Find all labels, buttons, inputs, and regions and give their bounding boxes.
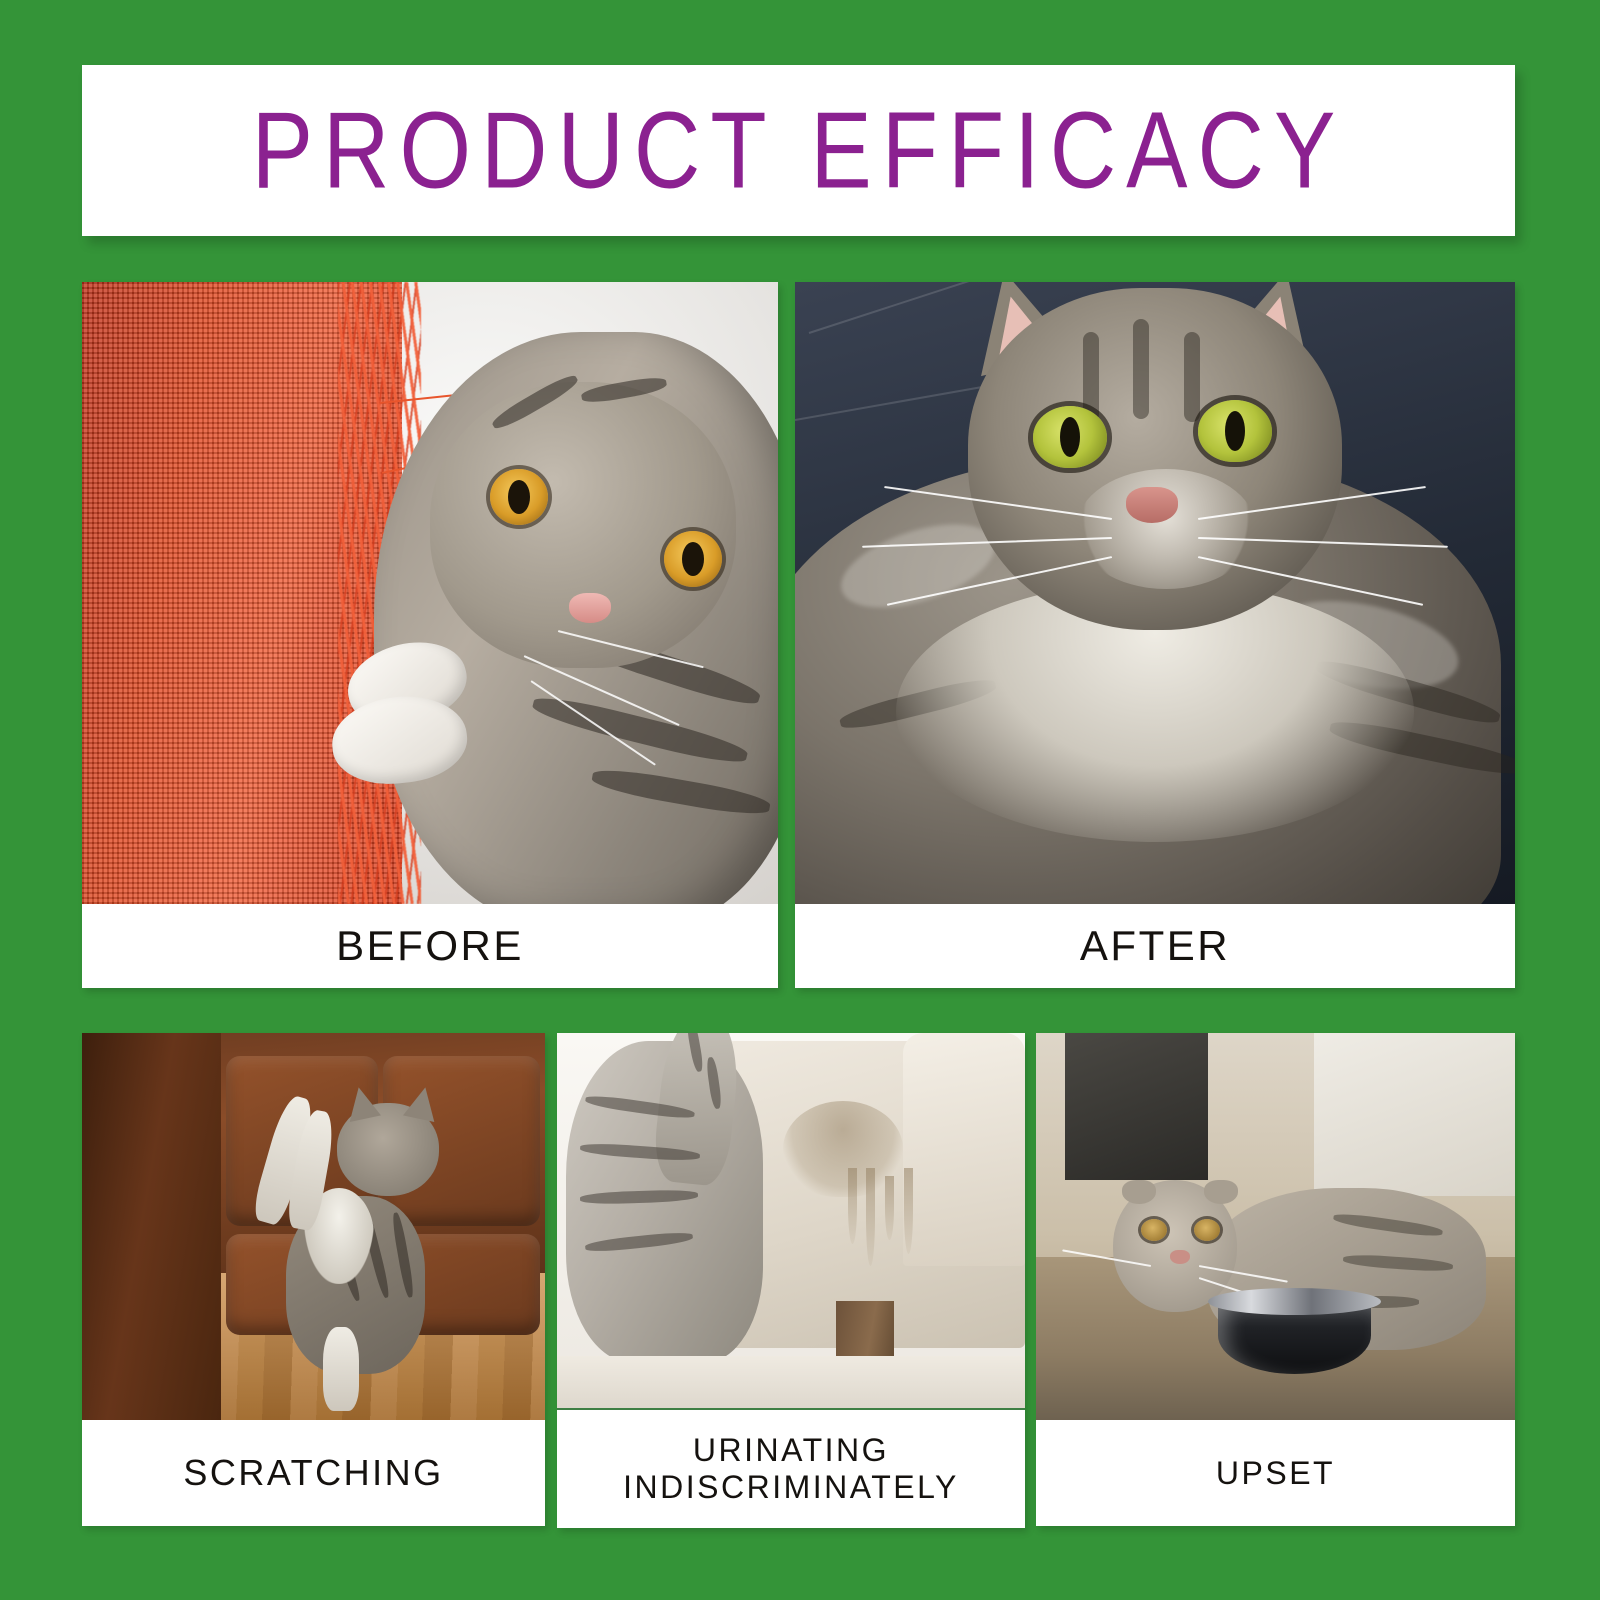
sofa-arm xyxy=(82,1033,221,1420)
armchair-arm xyxy=(903,1033,1025,1266)
card-after: AFTER xyxy=(795,282,1515,988)
caption-line-1: URINATING xyxy=(693,1432,889,1468)
cat-forehead-stripe xyxy=(1184,332,1200,422)
cat-pupil xyxy=(1060,417,1080,457)
cat-ear-right xyxy=(403,1084,441,1122)
title-banner: PRODUCT EFFICACY xyxy=(82,65,1515,236)
urine-drip xyxy=(848,1168,857,1244)
cat-eye-left xyxy=(490,469,548,525)
cat-pupil xyxy=(682,542,704,576)
floor xyxy=(557,1356,1025,1409)
caption-upset: UPSET xyxy=(1036,1420,1515,1526)
cat-ear-left xyxy=(343,1084,381,1122)
cat-eye-right xyxy=(1194,1219,1220,1241)
caption-before: BEFORE xyxy=(82,904,778,988)
photo-urinating xyxy=(557,1033,1025,1408)
card-upset: UPSET xyxy=(1036,1033,1515,1526)
cat-eye-left xyxy=(1033,406,1107,468)
caption-text: UPSET xyxy=(1216,1455,1335,1492)
cat-nose xyxy=(569,593,611,623)
caption-urinating: URINATING INDISCRIMINATELY xyxy=(557,1408,1025,1528)
caption-text: URINATING INDISCRIMINATELY xyxy=(623,1432,959,1506)
cat-forehead-stripe xyxy=(1133,319,1149,419)
cat-muzzle xyxy=(1076,469,1256,589)
card-scratching: SCRATCHING xyxy=(82,1033,545,1526)
cat-hind-leg xyxy=(323,1327,359,1411)
cat-eye-left xyxy=(1141,1219,1167,1241)
urine-drip xyxy=(885,1176,894,1240)
caption-scratching: SCRATCHING xyxy=(82,1420,545,1526)
photo-upset xyxy=(1036,1033,1515,1420)
cat-eye-right xyxy=(664,531,722,587)
photo-before xyxy=(82,282,778,904)
caption-text: SCRATCHING xyxy=(183,1452,443,1493)
caption-after: AFTER xyxy=(795,904,1515,988)
dark-cabinet xyxy=(1065,1033,1209,1180)
photo-scratching xyxy=(82,1033,545,1420)
shredded-fabric xyxy=(82,282,402,904)
cat-eye-right xyxy=(1198,400,1272,462)
card-urinating: URINATING INDISCRIMINATELY xyxy=(557,1033,1025,1528)
cat-head xyxy=(430,382,736,668)
cat-nose xyxy=(1170,1250,1190,1264)
caption-line-2: INDISCRIMINATELY xyxy=(623,1469,959,1505)
cat-pupil xyxy=(1225,411,1245,451)
caption-text: BEFORE xyxy=(336,922,524,970)
card-before: BEFORE xyxy=(82,282,778,988)
cat-folded-ear-right xyxy=(1204,1180,1238,1204)
photo-after xyxy=(795,282,1515,904)
caption-text: AFTER xyxy=(1080,922,1230,970)
wall-panel xyxy=(1314,1033,1515,1196)
page-title: PRODUCT EFFICACY xyxy=(252,96,1346,205)
urine-drip xyxy=(904,1168,913,1254)
cat-pupil xyxy=(508,480,530,514)
